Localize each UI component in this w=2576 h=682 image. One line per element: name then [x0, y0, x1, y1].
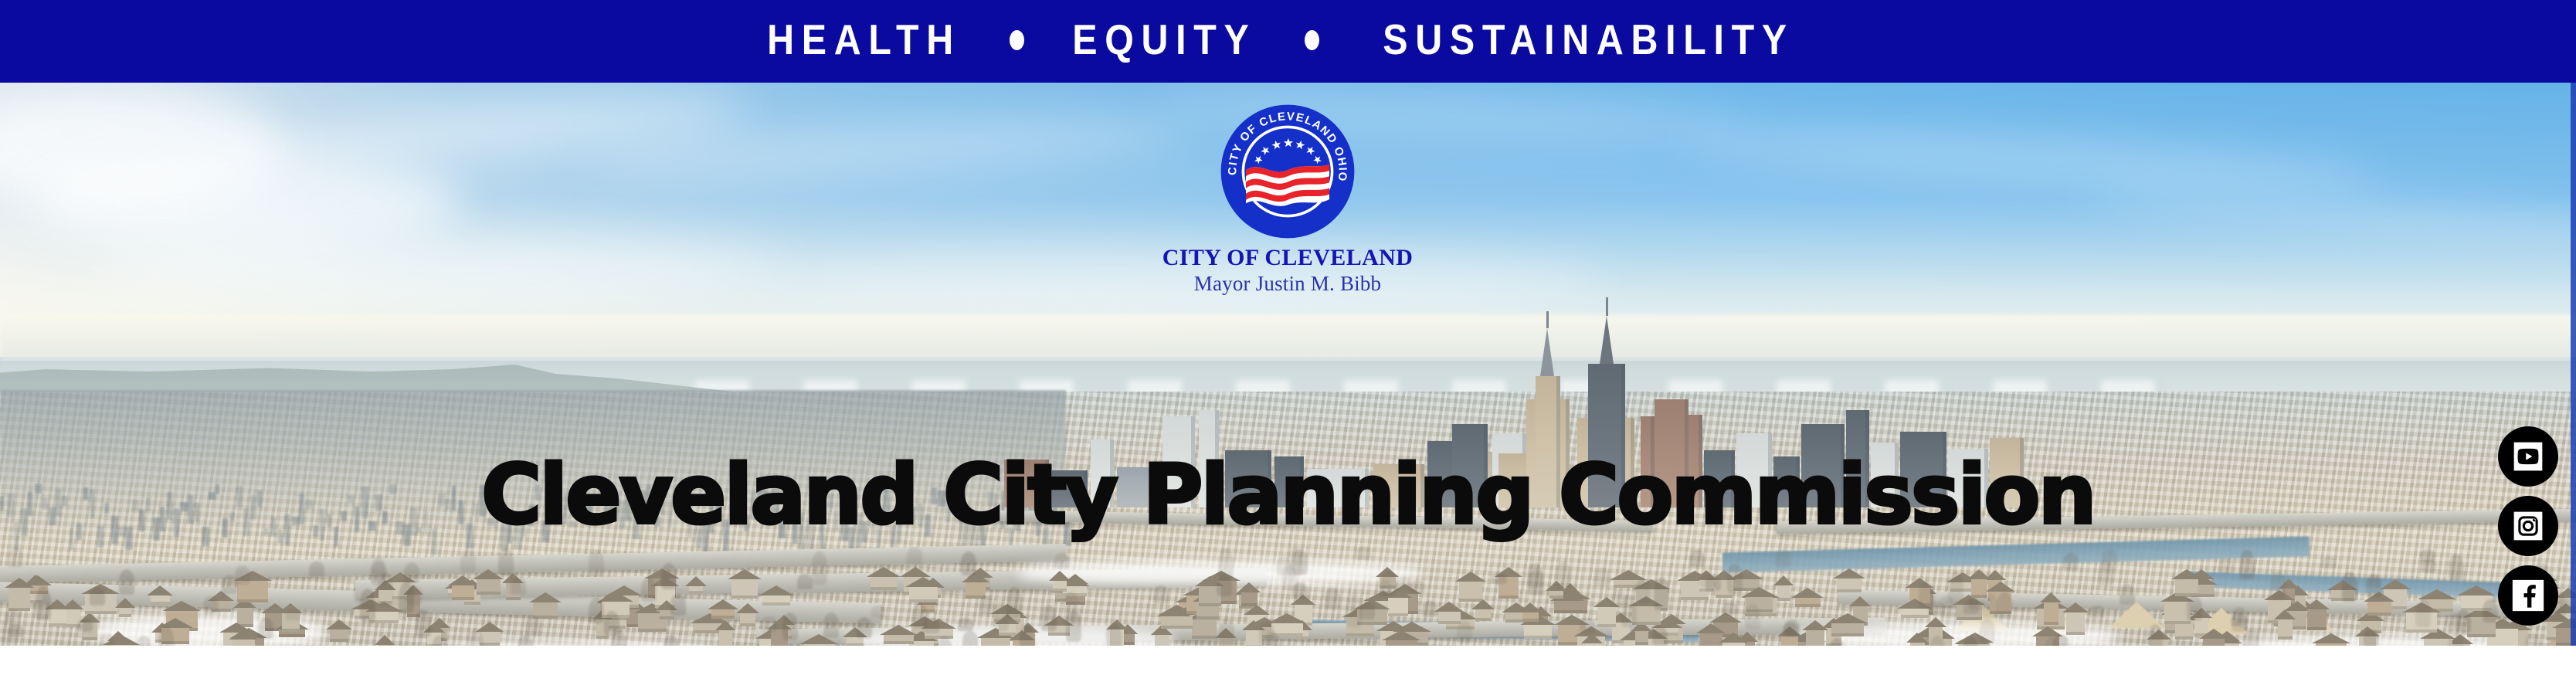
tree: [2449, 555, 2464, 580]
building: [2203, 639, 2225, 646]
tree: [2089, 606, 2105, 618]
building: [1524, 625, 1552, 639]
tree: [2342, 572, 2357, 602]
youtube-link[interactable]: [2498, 426, 2558, 487]
tree: [525, 616, 541, 636]
tree: [1054, 553, 1070, 568]
tree: [90, 587, 105, 606]
tree: [8, 624, 23, 637]
tree: [511, 576, 526, 595]
tree: [416, 609, 431, 637]
building: [981, 638, 1010, 646]
tagline-separator-dot-1: [1010, 30, 1024, 50]
tree: [1722, 602, 1738, 615]
brand-city-name: CITY OF CLEVELAND: [1122, 246, 1454, 270]
tree: [797, 574, 813, 589]
building: [871, 577, 897, 590]
tree: [979, 595, 994, 614]
tree: [1376, 580, 1392, 596]
tree: [235, 565, 250, 585]
tree: [2244, 630, 2259, 646]
tree: [2098, 560, 2113, 585]
building: [1522, 612, 1539, 622]
building: [1386, 640, 1417, 646]
tagline-separator-dot-2: [1305, 30, 1319, 50]
tree: [1218, 548, 1234, 579]
building: [2175, 579, 2198, 596]
cloud: [93, 233, 788, 303]
tree: [2270, 572, 2286, 600]
tree: [360, 589, 375, 623]
tree: [2120, 584, 2135, 605]
tree: [1106, 623, 1122, 646]
tree: [119, 569, 134, 595]
building: [119, 608, 131, 617]
tree: [1396, 577, 1411, 591]
building: [731, 579, 758, 599]
tree: [670, 594, 686, 616]
facebook-icon: [2511, 579, 2545, 612]
building: [1475, 609, 1491, 621]
tree: [1689, 550, 1705, 567]
tree: [309, 562, 324, 577]
tree: [1580, 617, 1595, 634]
building: [689, 586, 703, 594]
building: [1795, 598, 1821, 607]
tree: [762, 616, 777, 632]
building: [2278, 619, 2293, 640]
building: [762, 595, 790, 606]
tree: [2364, 629, 2379, 646]
tree: [1727, 564, 1743, 593]
building: [2066, 612, 2085, 635]
tree: [1594, 568, 1610, 586]
tree: [1982, 593, 1997, 618]
tree: [203, 596, 219, 614]
building: [477, 579, 501, 595]
building: [1831, 623, 1864, 636]
tree: [907, 547, 922, 565]
instagram-link[interactable]: [2498, 496, 2558, 556]
right-edge-strip: [2571, 83, 2576, 646]
tagline-word-health: HEALTH: [767, 19, 961, 61]
youtube-icon: [2511, 439, 2545, 473]
building: [1161, 616, 1187, 629]
building: [8, 588, 30, 611]
tree: [1064, 592, 1079, 623]
tree: [2321, 557, 2337, 568]
building: [232, 640, 255, 646]
tree: [1635, 579, 1651, 604]
tree: [258, 618, 273, 639]
instagram-icon: [2512, 510, 2544, 542]
tree: [2420, 549, 2435, 562]
tree: [1219, 619, 1234, 644]
city-brand-lockup: CITY OF CLEVELAND OHIO CITY OF CLEVELAND…: [1122, 102, 1454, 294]
tree: [857, 617, 872, 638]
tree: [1325, 588, 1340, 609]
building: [1155, 635, 1169, 646]
tree: [1784, 619, 1800, 636]
tree: [460, 549, 476, 572]
tree: [1775, 548, 1790, 568]
tree: [1980, 619, 1995, 644]
facebook-link[interactable]: [2498, 565, 2558, 626]
building: [847, 637, 864, 646]
tree: [2415, 599, 2431, 627]
tree: [371, 562, 386, 585]
city-of-cleveland-seal-icon: CITY OF CLEVELAND OHIO: [1218, 102, 1357, 241]
tree: [589, 550, 604, 576]
tree: [1556, 562, 1571, 588]
tree: [1153, 585, 1169, 604]
building: [1549, 591, 1563, 599]
building: [2367, 602, 2391, 616]
building: [1837, 579, 1862, 592]
banner-root: HEALTH EQUITY SUSTAINABILITY: [0, 0, 2576, 682]
building: [2044, 602, 2058, 625]
tree: [2187, 595, 2202, 620]
building: [909, 587, 938, 602]
tree: [2446, 613, 2462, 631]
tree: [2483, 599, 2498, 623]
building: [1053, 581, 1067, 592]
tree: [993, 601, 1009, 631]
building: [49, 609, 66, 626]
tree: [2063, 553, 2079, 571]
building: [1241, 592, 1257, 606]
tree: [871, 606, 886, 618]
building: [1806, 630, 1824, 646]
building: [711, 609, 735, 619]
bottom-whitespace: [0, 646, 2576, 682]
tree: [782, 612, 798, 640]
tagline-bar: HEALTH EQUITY SUSTAINABILITY: [0, 0, 2576, 83]
tree: [5, 609, 20, 621]
tree: [2218, 558, 2234, 574]
tree: [958, 618, 973, 631]
building: [1781, 636, 1798, 646]
tagline-inner: HEALTH EQUITY SUSTAINABILITY: [754, 19, 1822, 61]
tree: [2367, 574, 2382, 587]
tree: [407, 585, 423, 605]
tree: [961, 551, 976, 575]
tree: [641, 578, 657, 602]
tree: [1041, 605, 1057, 631]
tree: [1359, 602, 1375, 619]
tree: [1997, 592, 2012, 618]
tree: [1422, 601, 1437, 617]
tree: [1611, 590, 1627, 607]
building: [884, 635, 914, 644]
tree: [1292, 582, 1308, 599]
tree: [286, 609, 301, 620]
tree: [912, 604, 928, 628]
tagline-word-equity: EQUITY: [1072, 19, 1256, 61]
tree: [1410, 580, 1425, 593]
tree: [1006, 587, 1022, 619]
building: [740, 613, 755, 626]
tree: [404, 562, 419, 583]
tree: [8, 547, 23, 568]
tree: [962, 631, 978, 646]
tree: [77, 619, 93, 632]
tree: [823, 612, 839, 638]
page-title: Cleveland City Planning Commission: [0, 454, 2576, 536]
tagline-word-sustainability: SUSTAINABILITY: [1383, 19, 1794, 61]
tree: [1529, 569, 1544, 595]
building: [1554, 601, 1581, 613]
tree: [604, 611, 619, 636]
building: [1192, 619, 1217, 639]
tree: [1919, 581, 1934, 609]
building: [719, 630, 732, 646]
tree: [1745, 604, 1760, 629]
building: [452, 585, 474, 600]
tree: [1654, 577, 1669, 610]
brand-mayor-name: Mayor Justin M. Bibb: [1122, 273, 1454, 294]
tree: [1940, 595, 1955, 618]
tree: [498, 548, 514, 576]
building: [1635, 631, 1648, 645]
tree: [1699, 572, 1715, 588]
building: [2307, 609, 2327, 630]
tree: [2239, 550, 2255, 579]
social-links: [2497, 426, 2559, 626]
building: [330, 629, 348, 642]
tree: [661, 563, 677, 589]
tree: [2525, 634, 2540, 646]
tree: [589, 598, 604, 623]
tree: [812, 551, 827, 585]
building: [1597, 607, 1616, 627]
tree: [1457, 621, 1472, 643]
tree: [36, 586, 51, 620]
tree: [2232, 613, 2247, 626]
tree: [1652, 626, 1668, 645]
tree: [1356, 546, 1371, 560]
tree: [1492, 572, 1507, 584]
tree: [1963, 599, 1979, 614]
building: [1438, 612, 1461, 624]
building: [1388, 598, 1408, 616]
tree: [1217, 576, 1232, 596]
